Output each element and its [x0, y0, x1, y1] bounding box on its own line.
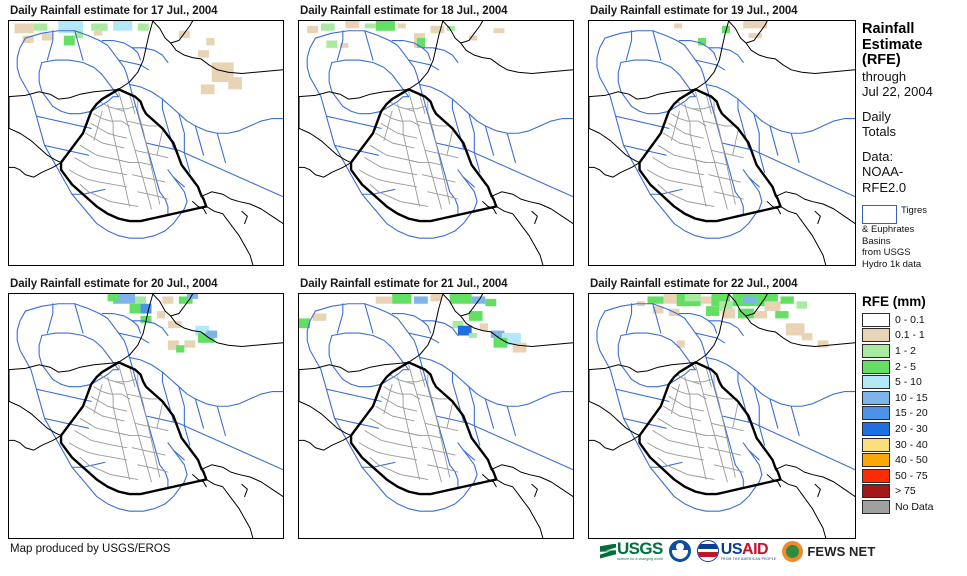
- map-frame: [588, 20, 856, 266]
- country-boundary: [461, 43, 573, 74]
- noaa-seal-icon: [669, 540, 691, 562]
- rainfall-cell: [469, 311, 483, 321]
- rainfall-cell: [176, 345, 184, 352]
- legend-label: 10 - 15: [895, 392, 928, 404]
- rainfall-cell: [113, 21, 132, 31]
- basin-boundary: [160, 192, 168, 214]
- admin-boundary: [389, 375, 414, 385]
- admin-boundary: [648, 443, 704, 460]
- map-frame: [588, 293, 856, 539]
- rfe-legend: RFE (mm) 0 - 0.10.1 - 11 - 22 - 55 - 101…: [862, 294, 967, 515]
- admin-boundary: [709, 448, 741, 455]
- country-boundary: [299, 163, 351, 178]
- legend-label: 20 - 30: [895, 423, 928, 435]
- admin-boundary: [86, 133, 124, 148]
- basin-boundary: [75, 304, 83, 333]
- admin-boundary: [80, 145, 129, 162]
- legend-row: 5 - 10: [862, 374, 967, 390]
- admin-boundary: [422, 448, 455, 455]
- rainfall-cell: [648, 296, 664, 303]
- basin-boundary: [722, 416, 855, 470]
- admin-boundary: [141, 443, 152, 482]
- rainfall-cell: [34, 23, 48, 30]
- basin-boundary: [337, 31, 342, 60]
- basin-boundary: [307, 38, 477, 238]
- rainfall-cell: [706, 306, 719, 316]
- fews-globe-icon: [782, 541, 803, 562]
- admin-boundary: [733, 131, 738, 155]
- admin-boundary: [403, 406, 411, 443]
- info-data-line1: Data:: [862, 149, 967, 165]
- basin-boundary: [36, 116, 91, 128]
- basin-boundary: [485, 126, 493, 155]
- admin-boundary: [685, 377, 690, 406]
- usgs-tagline: science for a changing world: [617, 557, 663, 561]
- rainfall-cell: [321, 23, 335, 30]
- basin-boundary: [695, 333, 724, 343]
- legend-row: No Data: [862, 499, 967, 515]
- admin-boundary: [132, 175, 165, 182]
- usaid-wordmark: USAID: [721, 542, 777, 557]
- admin-boundary: [86, 406, 124, 421]
- legend-label: 2 - 5: [895, 361, 916, 373]
- rainfall-cell: [480, 323, 488, 330]
- admin-boundary: [422, 175, 455, 182]
- country-boundary: [815, 484, 820, 496]
- legend-row: 2 - 5: [862, 359, 967, 375]
- basin-swatch: [862, 205, 897, 224]
- basin-boundary: [485, 399, 493, 428]
- admin-boundary: [663, 133, 700, 148]
- basin-label-line2: & Euphrates: [862, 224, 967, 236]
- legend-swatch: [862, 438, 890, 452]
- rainfall-cell: [198, 50, 209, 57]
- basin-boundary: [307, 311, 477, 511]
- basin-boundary: [365, 304, 373, 333]
- basin-boundary: [409, 60, 439, 70]
- legend-row: 30 - 40: [862, 437, 967, 453]
- admin-boundary: [428, 465, 458, 472]
- rainfall-cell: [802, 333, 813, 340]
- basin-boundary: [195, 399, 203, 428]
- map-panel-22jul: Daily Rainfall estimate for 22 Jul., 200…: [588, 277, 856, 539]
- admin-boundary: [119, 160, 152, 165]
- basin-boundary: [709, 321, 744, 336]
- country-boundary: [299, 401, 351, 435]
- admin-boundary: [108, 104, 113, 133]
- basin-boundary: [616, 389, 669, 401]
- admin-boundary: [411, 170, 419, 207]
- basin-boundary: [132, 48, 168, 63]
- basin-boundary: [42, 333, 119, 370]
- basin-boundary: [735, 192, 743, 214]
- admin-boundary: [677, 102, 701, 112]
- admin-boundary: [370, 145, 419, 162]
- legend-label: 40 - 50: [895, 454, 928, 466]
- admin-boundary: [398, 377, 403, 406]
- basin-boundary: [436, 143, 573, 197]
- admin-boundary: [648, 170, 704, 187]
- basin-boundary: [146, 416, 283, 470]
- info-title-line3: (RFE): [862, 53, 967, 69]
- admin-boundary: [658, 145, 706, 162]
- rainfall-cell: [392, 294, 411, 304]
- rainfall-cell: [674, 23, 682, 28]
- country-boundary: [242, 484, 247, 496]
- info-data-line3: RFE2.0: [862, 180, 967, 196]
- rfe-map-figure: Daily Rainfall estimate for 17 Jul., 200…: [0, 0, 967, 576]
- admin-boundary: [698, 443, 706, 480]
- legend-label: 5 - 10: [895, 376, 922, 388]
- info-totals-line2: Totals: [862, 124, 967, 140]
- map-frame: [8, 20, 284, 266]
- rainfall-cell: [818, 340, 829, 347]
- admin-boundary: [425, 150, 458, 157]
- basin-legend-entry: Tigres: [862, 205, 967, 224]
- country-boundary: [201, 192, 283, 224]
- rainfall-cell: [179, 31, 190, 38]
- country-boundary: [589, 128, 640, 162]
- legend-label: > 75: [895, 485, 916, 497]
- admin-boundary: [69, 170, 127, 187]
- admin-boundary: [370, 418, 419, 435]
- basin-boundary: [679, 314, 716, 334]
- rainfall-cell: [754, 311, 767, 318]
- rainfall-cell: [417, 38, 425, 48]
- basin-boundary: [217, 133, 225, 162]
- info-totals: Daily Totals: [862, 109, 967, 140]
- rainfall-cell: [42, 33, 53, 40]
- admin-boundary: [695, 160, 727, 165]
- map-frame: [298, 20, 574, 266]
- rainfall-cell: [64, 36, 75, 46]
- rainfall-cell: [157, 311, 165, 318]
- rainfall-cell: [376, 296, 392, 303]
- admin-boundary: [138, 465, 168, 472]
- rainfall-cell: [685, 294, 701, 301]
- panel-title: Daily Rainfall estimate for 19 Jul., 200…: [590, 4, 856, 18]
- country-boundary: [775, 192, 855, 224]
- admin-boundary: [425, 423, 458, 430]
- admin-boundary: [406, 106, 425, 108]
- admin-boundary: [690, 406, 698, 443]
- admin-boundary: [447, 131, 452, 155]
- admin-boundary: [121, 170, 129, 207]
- info-through-date: Jul 22, 2004: [862, 84, 967, 100]
- rainfall-cell: [431, 294, 442, 301]
- geography-layer: [299, 294, 573, 538]
- admin-boundary: [431, 443, 442, 482]
- rainfall-cell: [494, 28, 505, 33]
- admin-boundary: [359, 443, 417, 460]
- admin-boundary: [99, 102, 124, 112]
- map-canvas: [9, 294, 283, 538]
- geography-layer: [589, 294, 855, 538]
- admin-boundary: [719, 131, 727, 168]
- info-title-line1: Rainfall: [862, 22, 967, 38]
- admin-boundary: [690, 133, 698, 170]
- legend-row: 40 - 50: [862, 452, 967, 468]
- admin-boundary: [711, 423, 743, 430]
- rainfall-cell: [469, 333, 477, 338]
- basin-boundary: [217, 406, 225, 435]
- rainfall-cell: [414, 296, 428, 303]
- legend-row: 20 - 30: [862, 421, 967, 437]
- usgs-wordmark: USGS: [617, 541, 663, 557]
- admin-boundary: [663, 406, 700, 421]
- basin-boundary: [791, 406, 799, 435]
- legend-swatch: [862, 360, 890, 374]
- basin-boundary: [791, 133, 799, 162]
- country-boundary: [589, 436, 640, 451]
- basin-boundary: [17, 38, 187, 238]
- legend-swatch: [862, 484, 890, 498]
- country-boundary: [201, 465, 283, 497]
- basin-boundary: [337, 304, 342, 333]
- country-boundary: [9, 163, 61, 178]
- basin-boundary: [195, 126, 203, 155]
- rainfall-cell: [485, 299, 496, 306]
- admin-boundary: [113, 133, 121, 170]
- basin-boundary: [146, 143, 283, 197]
- map-panel-17jul: Daily Rainfall estimate for 17 Jul., 200…: [8, 4, 284, 266]
- basin-boundary: [749, 450, 760, 460]
- admin-boundary: [113, 406, 121, 443]
- rainfall-cell: [313, 314, 327, 321]
- rainfall-cell: [431, 26, 445, 33]
- basin-boundary: [507, 133, 515, 162]
- admin-boundary: [433, 404, 441, 441]
- usaid-logo: USAID FROM THE AMERICAN PEOPLE: [697, 540, 777, 562]
- usgs-wave-icon: [600, 544, 616, 559]
- admin-boundary: [141, 170, 152, 209]
- country-boundary: [491, 465, 573, 497]
- admin-boundary: [157, 131, 162, 155]
- basin-boundary: [621, 60, 695, 97]
- rainfall-cell: [326, 41, 337, 48]
- admin-boundary: [409, 160, 442, 165]
- info-legend-column: Rainfall Estimate (RFE) through Jul 22, …: [862, 0, 967, 576]
- legend-swatch: [862, 422, 890, 436]
- admin-boundary: [132, 448, 165, 455]
- legend-swatch: [862, 344, 890, 358]
- basin-label-line4: from USGS: [862, 247, 967, 259]
- basin-boundary: [365, 31, 373, 60]
- admin-boundary: [433, 131, 441, 168]
- rainfall-cell: [307, 26, 318, 33]
- admin-boundary: [714, 192, 743, 199]
- geography-layer: [589, 21, 855, 265]
- admin-boundary: [717, 443, 728, 482]
- map-panel-18jul: Daily Rainfall estimate for 18 Jul., 200…: [298, 4, 574, 266]
- basin-boundary: [626, 31, 631, 60]
- admin-boundary: [376, 133, 414, 148]
- rainfall-cell: [398, 23, 406, 28]
- map-canvas: [589, 294, 855, 538]
- basin-label-line3: Basins: [862, 236, 967, 248]
- rainfall-cell: [108, 294, 119, 301]
- basin-boundary: [102, 314, 140, 334]
- rainfall-cell: [228, 77, 242, 89]
- country-boundary: [589, 401, 640, 435]
- rainfall-cell: [135, 296, 146, 303]
- rainfall-layer: [108, 294, 218, 353]
- legend-swatch: [862, 375, 890, 389]
- basin-boundary: [42, 60, 119, 97]
- admin-boundary: [108, 377, 113, 406]
- rainfall-layer: [299, 294, 526, 353]
- rainfall-cell: [184, 340, 195, 347]
- rainfall-layer: [307, 21, 504, 48]
- rainfall-cell: [749, 33, 762, 38]
- admin-boundary: [733, 404, 738, 428]
- legend-swatch: [862, 313, 890, 327]
- map-panel-21jul: Daily Rainfall estimate for 21 Jul., 200…: [298, 277, 574, 539]
- fews-net-logo: FEWS NET: [782, 541, 875, 562]
- geography-layer: [9, 21, 283, 265]
- admin-boundary: [157, 404, 162, 428]
- admin-boundary: [138, 192, 168, 199]
- admin-boundary: [709, 175, 741, 182]
- basin-boundary: [326, 389, 381, 401]
- basin-boundary: [450, 465, 458, 487]
- admin-boundary: [389, 102, 414, 112]
- basin-boundary: [409, 333, 439, 343]
- basin-boundary: [597, 38, 762, 238]
- admin-boundary: [143, 131, 151, 168]
- map-panel-19jul: Daily Rainfall estimate for 19 Jul., 200…: [588, 4, 856, 266]
- rainfall-cell: [346, 21, 360, 28]
- usgs-logo: USGS science for a changing world: [600, 541, 663, 561]
- map-panel-20jul: Daily Rainfall estimate for 20 Jul., 200…: [8, 277, 284, 539]
- basin-boundary: [770, 126, 778, 155]
- admin-boundary: [428, 192, 458, 199]
- country-boundary: [299, 128, 351, 162]
- panel-title: Daily Rainfall estimate for 22 Jul., 200…: [590, 277, 856, 291]
- legend-label: No Data: [895, 501, 934, 513]
- rainfall-cell: [701, 296, 712, 303]
- legend-swatch: [862, 500, 890, 514]
- usaid-seal-icon: [697, 540, 719, 562]
- basin-boundary: [36, 389, 91, 401]
- info-totals-line1: Daily: [862, 109, 967, 125]
- rainfall-cell: [94, 31, 102, 36]
- country-boundary: [775, 465, 855, 497]
- admin-boundary: [698, 170, 706, 207]
- country-boundary: [815, 211, 820, 223]
- country-boundary: [491, 192, 573, 224]
- rainfall-cell: [765, 301, 781, 311]
- legend-swatch: [862, 469, 890, 483]
- legend-label: 15 - 20: [895, 407, 928, 419]
- admin-boundary: [376, 406, 414, 421]
- admin-boundary: [658, 418, 706, 435]
- legend-row: 0.1 - 1: [862, 328, 967, 344]
- legend-label: 30 - 40: [895, 439, 928, 451]
- map-canvas: [9, 21, 283, 265]
- admin-boundary: [406, 379, 425, 381]
- rainfall-layer: [637, 294, 829, 348]
- basin-boundary: [463, 177, 474, 187]
- basin-boundary: [332, 333, 409, 370]
- basin-boundary: [653, 31, 661, 60]
- rainfall-cell: [201, 84, 215, 94]
- admin-boundary: [411, 443, 419, 480]
- basin-boundary: [332, 60, 409, 97]
- rainfall-cell: [450, 294, 472, 304]
- legend-swatch: [862, 453, 890, 467]
- rainfall-layer: [674, 21, 767, 45]
- legend-swatch: [862, 391, 890, 405]
- basin-boundary: [173, 177, 184, 187]
- legend-row: > 75: [862, 484, 967, 500]
- rainfall-cell: [494, 338, 508, 348]
- basin-boundary: [102, 41, 140, 61]
- admin-boundary: [143, 404, 151, 441]
- basin-boundary: [616, 116, 669, 128]
- admin-boundary: [693, 106, 712, 108]
- basin-boundary: [119, 333, 149, 343]
- map-frame: [8, 293, 284, 539]
- geography-layer: [9, 294, 283, 538]
- admin-boundary: [409, 433, 442, 438]
- rainfall-cell: [91, 23, 107, 30]
- admin-boundary: [116, 106, 135, 108]
- country-boundary: [746, 43, 855, 74]
- basin-boundary: [450, 192, 458, 214]
- usaid-tagline: FROM THE AMERICAN PEOPLE: [721, 557, 777, 561]
- legend-row: 15 - 20: [862, 406, 967, 422]
- admin-boundary: [135, 423, 168, 430]
- map-frame: [298, 293, 574, 539]
- admin-boundary: [714, 465, 743, 472]
- legend-row: 50 - 75: [862, 468, 967, 484]
- admin-boundary: [135, 150, 168, 157]
- info-data-source: Data: NOAA- RFE2.0: [862, 149, 967, 196]
- admin-boundary: [677, 375, 701, 385]
- legend-row: 0 - 0.1: [862, 312, 967, 328]
- country-boundary: [242, 211, 247, 223]
- admin-boundary: [693, 379, 712, 381]
- rainfall-cell: [743, 296, 756, 303]
- rainfall-cell: [376, 21, 395, 31]
- admin-boundary: [121, 443, 129, 480]
- admin-boundary: [685, 104, 690, 133]
- basin-boundary: [626, 304, 631, 333]
- basin-boundary: [326, 116, 381, 128]
- panel-title: Daily Rainfall estimate for 18 Jul., 200…: [300, 4, 574, 18]
- basin-boundary: [173, 450, 184, 460]
- fews-wordmark: FEWS NET: [807, 544, 875, 559]
- basin-boundary: [392, 314, 430, 334]
- basin-boundary: [507, 406, 515, 435]
- basin-label-line5: Hydro 1k data: [862, 259, 967, 271]
- basin-label-line1: Tigres: [901, 205, 927, 217]
- rainfall-cell: [130, 304, 141, 314]
- admin-boundary: [403, 133, 411, 170]
- info-data-line2: NOAA-: [862, 164, 967, 180]
- basin-boundary: [735, 465, 743, 487]
- basin-boundary: [463, 450, 474, 460]
- admin-boundary: [359, 170, 417, 187]
- admin-boundary: [447, 404, 452, 428]
- admin-boundary: [398, 104, 403, 133]
- country-boundary: [532, 484, 537, 496]
- country-boundary: [9, 128, 61, 162]
- basin-boundary: [695, 60, 724, 70]
- rfe-legend-heading: RFE (mm): [862, 294, 967, 309]
- admin-boundary: [99, 375, 124, 385]
